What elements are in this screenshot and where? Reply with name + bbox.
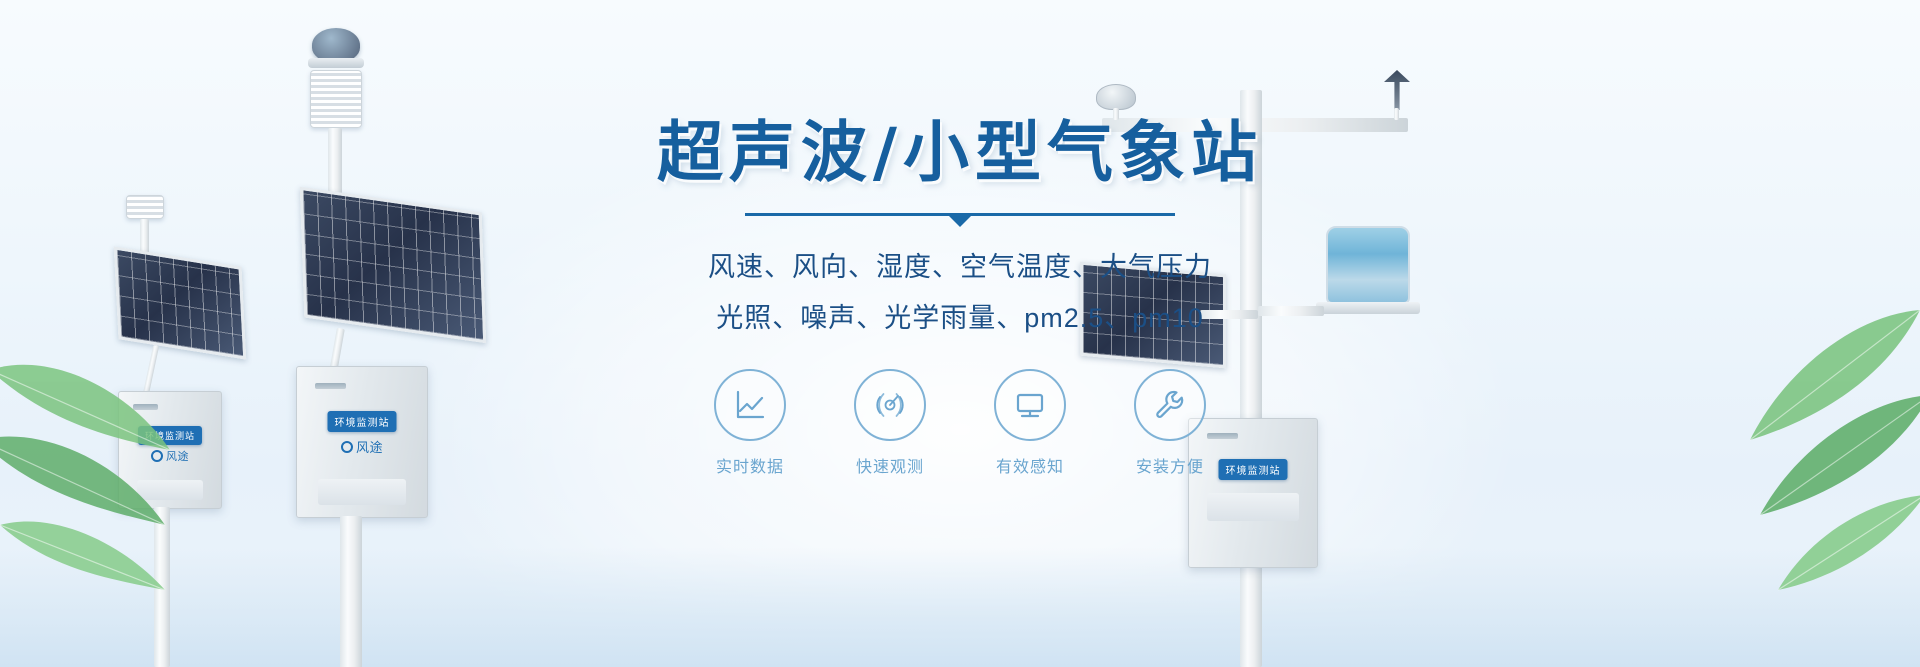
feature-label: 快速观测	[844, 453, 936, 477]
feature-item-effective-sensing[interactable]: 有效感知	[984, 369, 1076, 477]
radar-scan-icon	[871, 386, 909, 424]
rain-gauge-base	[1316, 302, 1420, 314]
mast-lower	[340, 516, 362, 667]
feature-list: 实时数据 快速观测	[610, 369, 1310, 477]
wind-vane-icon	[1384, 70, 1410, 110]
solar-panel	[300, 187, 486, 343]
feature-item-easy-installation[interactable]: 安装方便	[1124, 369, 1216, 477]
title-divider	[745, 213, 1175, 225]
vane-stem	[1394, 108, 1399, 120]
feature-label: 安装方便	[1124, 453, 1216, 477]
radiation-shield-icon	[310, 70, 362, 128]
sensor-ring	[308, 58, 364, 68]
leaf-decoration-left	[0, 330, 200, 590]
leaf-decoration-right	[1690, 300, 1920, 600]
brand-logo: 风途	[341, 437, 383, 456]
feature-icon-circle	[994, 369, 1066, 441]
enclosure-tag: 环境监测站	[328, 411, 397, 432]
monitor-icon	[1011, 386, 1049, 424]
feature-label: 有效感知	[984, 453, 1076, 477]
brand-mark-icon	[341, 441, 353, 453]
divider-triangle-icon	[949, 216, 971, 227]
ultrasonic-wind-sensor-icon	[312, 28, 360, 62]
wrench-icon	[1151, 386, 1189, 424]
brand-name: 风途	[356, 437, 383, 456]
feature-icon-circle	[714, 369, 786, 441]
rain-gauge-icon	[1326, 226, 1410, 304]
banner-text-block: 超声波/小型气象站 风速、风向、湿度、空气温度、大气压力 光照、噪声、光学雨量、…	[610, 118, 1310, 477]
enclosure-box: 环境监测站 风途	[296, 366, 428, 518]
page-title: 超声波/小型气象站	[610, 118, 1310, 187]
weather-station-left-tall: 环境监测站 风途	[288, 28, 488, 667]
line-chart-icon	[731, 386, 769, 424]
feature-icon-circle	[1134, 369, 1206, 441]
feature-item-realtime-data[interactable]: 实时数据	[704, 369, 796, 477]
subtitle-line-2: 光照、噪声、光学雨量、pm2.5、pm10	[610, 296, 1310, 335]
product-banner: 环境监测站 风途 环境监测站 风途	[0, 0, 1920, 667]
subtitle-line-1: 风速、风向、湿度、空气温度、大气压力	[610, 245, 1310, 284]
radiation-shield-icon	[126, 195, 164, 219]
feature-item-fast-observation[interactable]: 快速观测	[844, 369, 936, 477]
feature-label: 实时数据	[704, 453, 796, 477]
ultrasonic-wind-sensor-icon	[1096, 84, 1136, 110]
feature-icon-circle	[854, 369, 926, 441]
